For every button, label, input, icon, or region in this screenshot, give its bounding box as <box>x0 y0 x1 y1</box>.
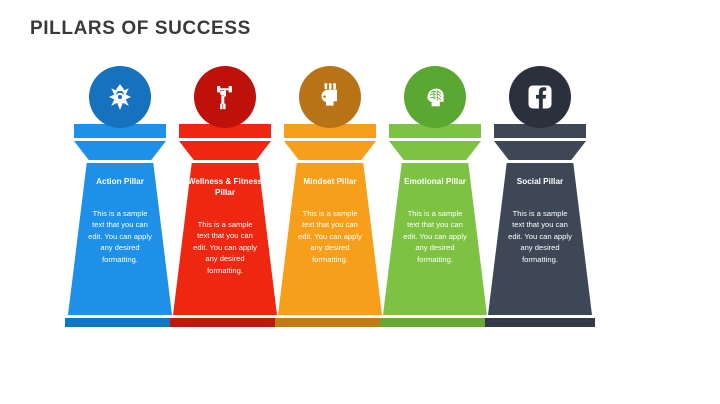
pillar-badge[interactable] <box>404 66 466 128</box>
pillar-shaft: Wellness & Fitness Pillar This is a samp… <box>173 163 277 315</box>
pillar-badge[interactable] <box>194 66 256 128</box>
facebook-icon <box>523 80 557 114</box>
pillar-capital-trapezoid <box>179 141 271 160</box>
pillar-social[interactable]: Social Pillar This is a sample text that… <box>482 66 598 336</box>
pillar-base <box>170 318 280 327</box>
pillar-mindset[interactable]: Mindset Pillar This is a sample text tha… <box>272 66 388 336</box>
pillar-heading: Action Pillar <box>68 176 172 187</box>
pillar-base <box>65 318 175 327</box>
pillar-heading: Social Pillar <box>488 176 592 187</box>
pillar-wellness-fitness[interactable]: Wellness & Fitness Pillar This is a samp… <box>167 66 283 336</box>
pillar-heading: Mindset Pillar <box>278 176 382 187</box>
pillar-capital-trapezoid <box>284 141 376 160</box>
slide-canvas: PILLARS OF SUCCESS <box>0 0 720 404</box>
gem-icon <box>103 80 137 114</box>
pillar-action[interactable]: Action Pillar This is a sample text that… <box>62 66 178 336</box>
pillar-shaft: Mindset Pillar This is a sample text tha… <box>278 163 382 315</box>
pillar-base <box>380 318 490 327</box>
pillar-emotional[interactable]: Emotional Pillar This is a sample text t… <box>377 66 493 336</box>
head-brain-icon <box>418 80 452 114</box>
pillar-shaft: Action Pillar This is a sample text that… <box>68 163 172 315</box>
page-title: PILLARS OF SUCCESS <box>30 18 251 40</box>
pillar-capital-trapezoid <box>74 141 166 160</box>
pillar-capital-trapezoid <box>389 141 481 160</box>
pillar-heading: Emotional Pillar <box>383 176 487 187</box>
pillar-badge[interactable] <box>509 66 571 128</box>
head-gears-icon <box>313 80 347 114</box>
pillar-heading: Wellness & Fitness Pillar <box>173 176 277 198</box>
pillar-shaft: Social Pillar This is a sample text that… <box>488 163 592 315</box>
pillar-shaft: Emotional Pillar This is a sample text t… <box>383 163 487 315</box>
pillar-badge[interactable] <box>299 66 361 128</box>
pillar-body-text: This is a sample text that you can edit.… <box>68 208 172 265</box>
pillar-base <box>275 318 385 327</box>
pillar-base <box>485 318 595 327</box>
pillar-body-text: This is a sample text that you can edit.… <box>488 208 592 265</box>
weightlifter-icon <box>208 80 242 114</box>
pillar-body-text: This is a sample text that you can edit.… <box>383 208 487 265</box>
pillar-body-text: This is a sample text that you can edit.… <box>173 219 277 276</box>
pillar-badge[interactable] <box>89 66 151 128</box>
pillar-body-text: This is a sample text that you can edit.… <box>278 208 382 265</box>
pillar-capital-trapezoid <box>494 141 586 160</box>
